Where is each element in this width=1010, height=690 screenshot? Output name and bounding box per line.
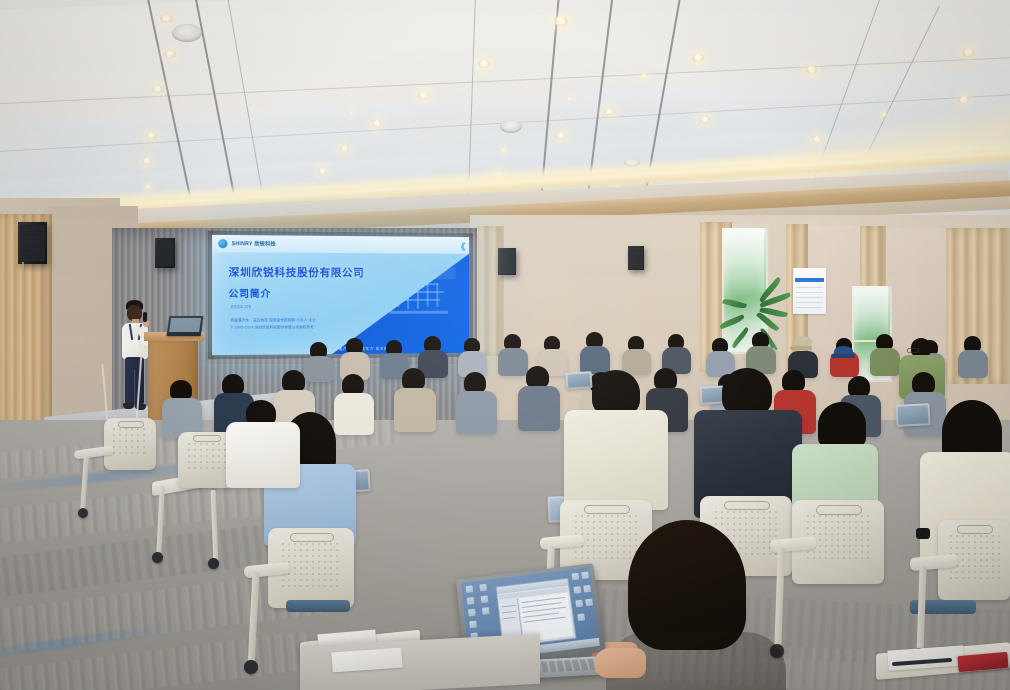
audience-torso bbox=[226, 422, 300, 488]
downlight bbox=[418, 92, 429, 99]
downlight bbox=[604, 108, 614, 115]
wall-notice-poster bbox=[793, 268, 826, 314]
shinry-circle-logo-icon bbox=[218, 239, 227, 248]
audience-head bbox=[912, 372, 935, 394]
slide-subhead: 公司简介 bbox=[229, 286, 272, 300]
downlight bbox=[692, 54, 704, 62]
chair-caster bbox=[78, 508, 88, 518]
downlight bbox=[164, 50, 176, 58]
chair-caster bbox=[208, 558, 219, 569]
wall-speaker bbox=[628, 246, 644, 270]
downlight bbox=[478, 60, 490, 68]
downlight bbox=[500, 148, 507, 153]
slide-headline: 深圳欣锐科技股份有限公司 bbox=[229, 264, 365, 280]
audience-torso bbox=[394, 388, 436, 432]
presenter-leg-split bbox=[134, 370, 135, 405]
slide-corner-mark: 《 bbox=[457, 240, 466, 253]
audience-torso bbox=[518, 386, 560, 431]
downlight bbox=[318, 168, 327, 174]
chair-caster bbox=[244, 660, 258, 674]
presenter-badge bbox=[132, 340, 138, 348]
downlight bbox=[348, 110, 355, 115]
notice-header-band bbox=[795, 278, 824, 282]
downlight bbox=[152, 86, 163, 93]
foreground-typing-hand bbox=[594, 648, 646, 678]
speaker-grill bbox=[20, 225, 44, 262]
downlight bbox=[554, 16, 568, 26]
audience-head bbox=[170, 380, 192, 400]
downlight bbox=[160, 14, 173, 23]
chair-seat bbox=[286, 600, 350, 612]
speaker-grill bbox=[499, 250, 514, 274]
wall-speaker bbox=[498, 248, 516, 275]
audience-head bbox=[848, 376, 870, 397]
slide-logo-text: SHINRY 欣锐科技 bbox=[232, 240, 276, 247]
downlight bbox=[340, 146, 349, 152]
presenter-shoe bbox=[123, 403, 134, 409]
notice-body-lines bbox=[796, 286, 823, 308]
audience-head bbox=[464, 372, 486, 393]
downlight bbox=[372, 120, 382, 127]
speaker-grill bbox=[157, 240, 174, 266]
audience-member-cream bbox=[556, 370, 676, 520]
cap-brim-icon bbox=[790, 346, 812, 350]
podium-laptop-screen bbox=[169, 318, 201, 332]
audience-head bbox=[222, 374, 244, 395]
chair-caster bbox=[152, 552, 163, 563]
downlight bbox=[556, 132, 566, 139]
slide-fine-print-1: 新能源汽车 · 高压电控 国家级专精特新“小巨人”企业 bbox=[231, 317, 317, 322]
microphone-icon bbox=[143, 312, 147, 322]
foreground-hair bbox=[628, 520, 746, 650]
chair-perforation bbox=[111, 426, 148, 456]
audience-head bbox=[526, 366, 549, 388]
slide-fine-print-2: © 2005-2024 深圳欣锐科技股份有限公司版权所有 bbox=[231, 324, 314, 329]
ceiling-speaker-icon bbox=[500, 120, 522, 133]
conference-room-photo: SHINRY 欣锐科技 《 深圳欣锐科技股份有限公司 公司简介 2024.05 … bbox=[0, 0, 1010, 690]
audience-torso bbox=[564, 410, 668, 510]
downlight bbox=[146, 132, 156, 139]
downlight bbox=[962, 48, 975, 57]
slide-date: 2024.05 bbox=[231, 304, 252, 309]
downlight bbox=[880, 112, 887, 117]
downlight bbox=[142, 158, 151, 164]
wall-speaker bbox=[155, 238, 175, 268]
downlight bbox=[806, 66, 817, 74]
podium-laptop bbox=[167, 316, 204, 336]
audience-head bbox=[402, 368, 425, 390]
ceiling-speaker-icon bbox=[172, 24, 202, 42]
chair[interactable] bbox=[104, 418, 156, 470]
smartwatch-icon bbox=[916, 528, 930, 539]
audience-torso bbox=[456, 391, 497, 434]
speaker-grill bbox=[629, 247, 642, 268]
audience-head bbox=[342, 374, 364, 395]
audience-head bbox=[282, 370, 305, 392]
audience-head bbox=[722, 368, 772, 416]
wall-speaker bbox=[18, 222, 47, 264]
downlight bbox=[640, 74, 648, 79]
downlight bbox=[566, 96, 573, 101]
downlight bbox=[958, 96, 969, 104]
downlight bbox=[144, 184, 152, 189]
audience-member-white-shirt bbox=[218, 400, 308, 492]
downlight bbox=[700, 116, 710, 123]
